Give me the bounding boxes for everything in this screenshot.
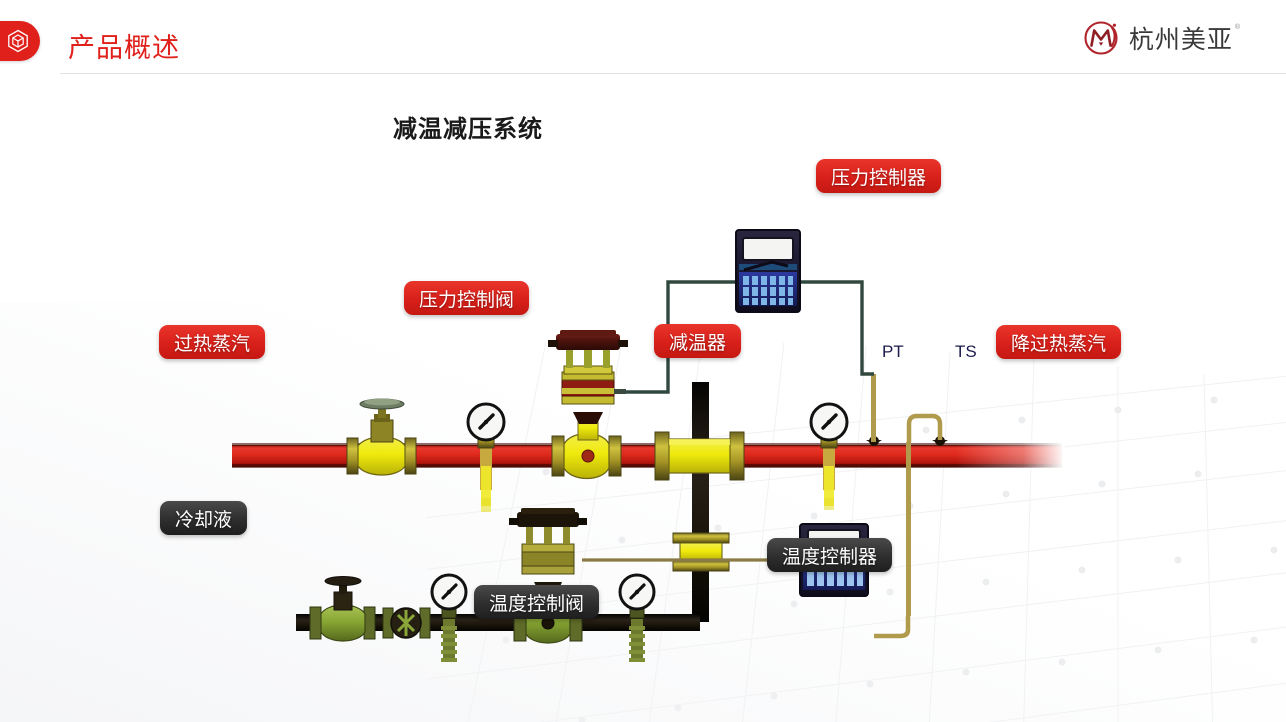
label-pressure-controller[interactable]: 压力控制器 xyxy=(816,159,941,193)
page-title: 产品概述 xyxy=(68,26,180,65)
diagram-stage: 减温减压系统 xyxy=(0,74,1286,722)
pt-transmitter-tap xyxy=(866,374,882,446)
label-temperature-controller[interactable]: 温度控制器 xyxy=(767,538,892,572)
coolant-strainer xyxy=(383,608,430,638)
brand-name: 杭州美亚 xyxy=(1129,20,1233,56)
meiya-m-logo-icon xyxy=(1081,18,1121,58)
tag-ts-sensor: TS xyxy=(955,342,977,362)
process-flow-artwork xyxy=(0,74,1286,722)
coolant-isolation-valve xyxy=(310,577,375,642)
label-temperature-control-valve[interactable]: 温度控制阀 xyxy=(474,585,599,619)
cube-hexagon-icon xyxy=(0,21,40,61)
temperature-control-valve xyxy=(509,508,587,643)
page-header: 产品概述 杭州美亚 ® xyxy=(0,0,1286,74)
label-superheated-steam[interactable]: 过热蒸汽 xyxy=(159,325,265,359)
label-desuperheater[interactable]: 减温器 xyxy=(654,324,741,358)
label-desuperheated-steam[interactable]: 降过热蒸汽 xyxy=(996,325,1121,359)
pressure-control-valve xyxy=(548,330,628,479)
coolant-riser-pipe xyxy=(692,382,709,622)
tag-pt-sensor: PT xyxy=(882,342,904,362)
coolant-riser-flange xyxy=(673,533,729,571)
brand-trademark: ® xyxy=(1235,24,1240,31)
label-pressure-control-valve[interactable]: 压力控制阀 xyxy=(404,281,529,315)
pressure-controller-device xyxy=(736,230,800,312)
desuperheater-unit xyxy=(655,432,744,480)
slide-page: 产品概述 杭州美亚 ® 减温减压系统 xyxy=(0,0,1286,722)
steam-isolation-valve xyxy=(347,399,416,475)
label-coolant[interactable]: 冷却液 xyxy=(160,501,247,535)
brand-logo: 杭州美亚 ® xyxy=(1081,18,1240,58)
